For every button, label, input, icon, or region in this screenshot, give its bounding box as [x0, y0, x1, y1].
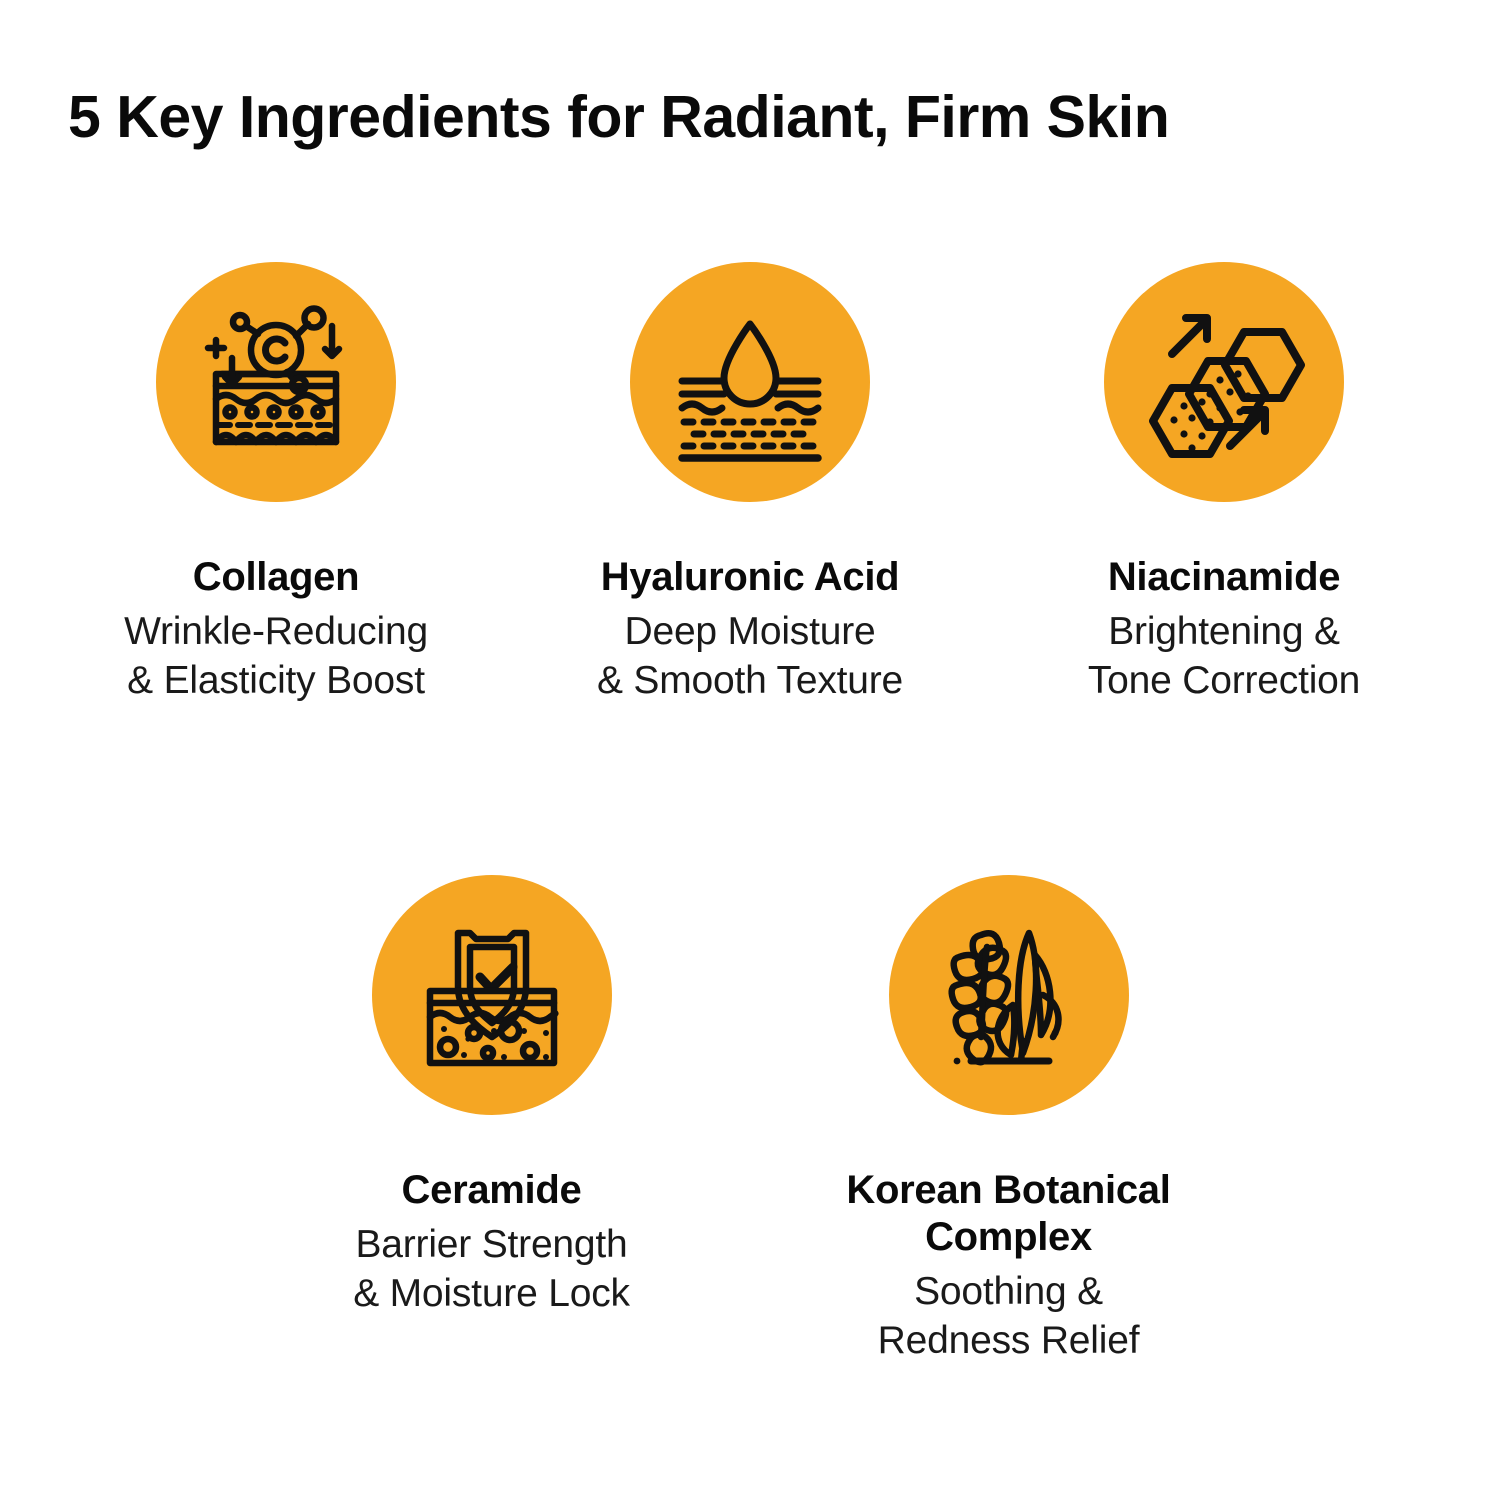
- badge-hyaluronic-acid: [630, 262, 870, 502]
- desc-line-2: & Smooth Texture: [540, 656, 960, 705]
- ingredient-description: Deep Moisture & Smooth Texture: [540, 607, 960, 705]
- shield-check-skin-barrier-icon: [408, 911, 576, 1079]
- desc-line-1: Barrier Strength: [282, 1220, 702, 1269]
- infographic-page: 5 Key Ingredients for Radiant, Firm Skin: [0, 0, 1500, 1500]
- ingredient-row-top: Collagen Wrinkle-Reducing & Elasticity B…: [0, 262, 1500, 705]
- ingredient-name: Hyaluronic Acid: [540, 554, 960, 601]
- ingredient-description: Wrinkle-Reducing & Elasticity Boost: [66, 607, 486, 705]
- page-title: 5 Key Ingredients for Radiant, Firm Skin: [68, 86, 1438, 149]
- desc-line-1: Wrinkle-Reducing: [66, 607, 486, 656]
- ingredient-description: Barrier Strength & Moisture Lock: [282, 1220, 702, 1318]
- badge-collagen: [156, 262, 396, 502]
- ingredient-description: Soothing & Redness Relief: [799, 1267, 1219, 1365]
- card-text-korean-botanical-complex: Korean Botanical Complex Soothing & Redn…: [799, 1167, 1219, 1365]
- card-text-collagen: Collagen Wrinkle-Reducing & Elasticity B…: [66, 554, 486, 705]
- card-text-niacinamide: Niacinamide Brightening & Tone Correctio…: [1014, 554, 1434, 705]
- desc-line-2: & Elasticity Boost: [66, 656, 486, 705]
- card-text-hyaluronic-acid: Hyaluronic Acid Deep Moisture & Smooth T…: [540, 554, 960, 705]
- ingredient-row-bottom: Ceramide Barrier Strength & Moisture Loc…: [0, 875, 1500, 1365]
- desc-line-1: Deep Moisture: [540, 607, 960, 656]
- ingredient-name: Ceramide: [282, 1167, 702, 1214]
- desc-line-1: Brightening &: [1014, 607, 1434, 656]
- desc-line-2: Redness Relief: [799, 1316, 1219, 1365]
- water-droplet-skin-layers-icon: [666, 298, 834, 466]
- desc-line-2: Tone Correction: [1014, 656, 1434, 705]
- badge-niacinamide: [1104, 262, 1344, 502]
- ingredient-card-korean-botanical-complex[interactable]: Korean Botanical Complex Soothing & Redn…: [878, 875, 1140, 1365]
- hexagon-cells-arrows-icon: [1140, 298, 1308, 466]
- ingredient-name: Niacinamide: [1014, 554, 1434, 601]
- ingredient-card-niacinamide[interactable]: Niacinamide Brightening & Tone Correctio…: [1093, 262, 1355, 705]
- ingredient-description: Brightening & Tone Correction: [1014, 607, 1434, 705]
- collagen-skin-layers-icon: [192, 298, 360, 466]
- ingredient-card-hyaluronic-acid[interactable]: Hyaluronic Acid Deep Moisture & Smooth T…: [619, 262, 881, 705]
- name-line-2: Complex: [925, 1215, 1092, 1259]
- desc-line-2: & Moisture Lock: [282, 1269, 702, 1318]
- ingredient-card-collagen[interactable]: Collagen Wrinkle-Reducing & Elasticity B…: [145, 262, 407, 705]
- ingredient-name: Collagen: [66, 554, 486, 601]
- botanical-plant-grain-icon: [925, 911, 1093, 1079]
- desc-line-1: Soothing &: [799, 1267, 1219, 1316]
- badge-korean-botanical-complex: [889, 875, 1129, 1115]
- ingredient-card-ceramide[interactable]: Ceramide Barrier Strength & Moisture Loc…: [361, 875, 623, 1365]
- card-text-ceramide: Ceramide Barrier Strength & Moisture Loc…: [282, 1167, 702, 1318]
- name-line-1: Korean Botanical: [846, 1168, 1170, 1212]
- badge-ceramide: [372, 875, 612, 1115]
- ingredient-name: Korean Botanical Complex: [799, 1167, 1219, 1261]
